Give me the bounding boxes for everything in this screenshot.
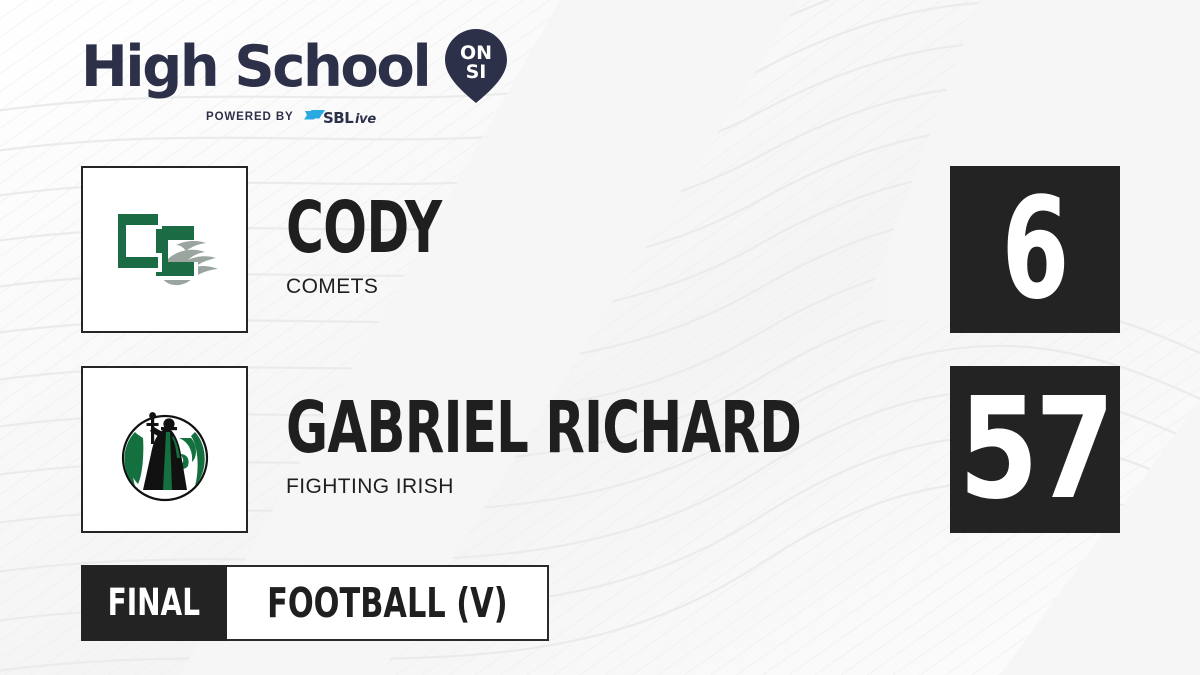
on-si-pin-icon: ON SI	[445, 29, 507, 103]
sblive-logo: SBL ive	[303, 108, 399, 127]
team-score-box: 57	[950, 366, 1120, 533]
gabriel-richard-fighting-irish-logo-icon	[113, 396, 217, 504]
team-logo-frame-gabriel-richard	[81, 366, 248, 533]
powered-by-label: POWERED BY	[206, 111, 294, 123]
cody-comets-logo-icon	[106, 200, 224, 300]
brand-title: High School	[81, 36, 429, 98]
game-sport-label: FOOTBALL (V)	[267, 579, 508, 627]
team-logo-frame-cody	[81, 166, 248, 333]
powered-by-row: POWERED BY SBL ive	[81, 107, 511, 127]
svg-text:SI: SI	[466, 61, 487, 83]
game-status-state: FINAL	[81, 565, 227, 641]
team-name: GABRIEL RICHARD	[286, 399, 801, 459]
team-score-value: 6	[1001, 194, 1069, 306]
game-status-bar: FINAL FOOTBALL (V)	[81, 565, 549, 641]
team-text-block: CODY COMETS	[286, 166, 490, 333]
brand-wordmark: High School ON SI	[81, 32, 511, 102]
team-row: GABRIEL RICHARD FIGHTING IRISH 57	[0, 366, 1200, 533]
game-status-state-label: FINAL	[108, 581, 201, 624]
team-score-value: 57	[959, 394, 1112, 506]
svg-text:SBL: SBL	[323, 109, 354, 127]
team-row: CODY COMETS 6	[0, 166, 1200, 333]
brand-header: High School ON SI POWERED BY SBL ive	[81, 32, 511, 137]
game-sport-chip: FOOTBALL (V)	[227, 565, 549, 641]
team-mascot: FIGHTING IRISH	[286, 475, 968, 499]
team-score-box: 6	[950, 166, 1120, 333]
team-name: CODY	[286, 199, 441, 259]
team-text-block: GABRIEL RICHARD FIGHTING IRISH	[286, 366, 968, 533]
team-mascot: COMETS	[286, 275, 490, 299]
svg-text:ive: ive	[355, 112, 376, 127]
